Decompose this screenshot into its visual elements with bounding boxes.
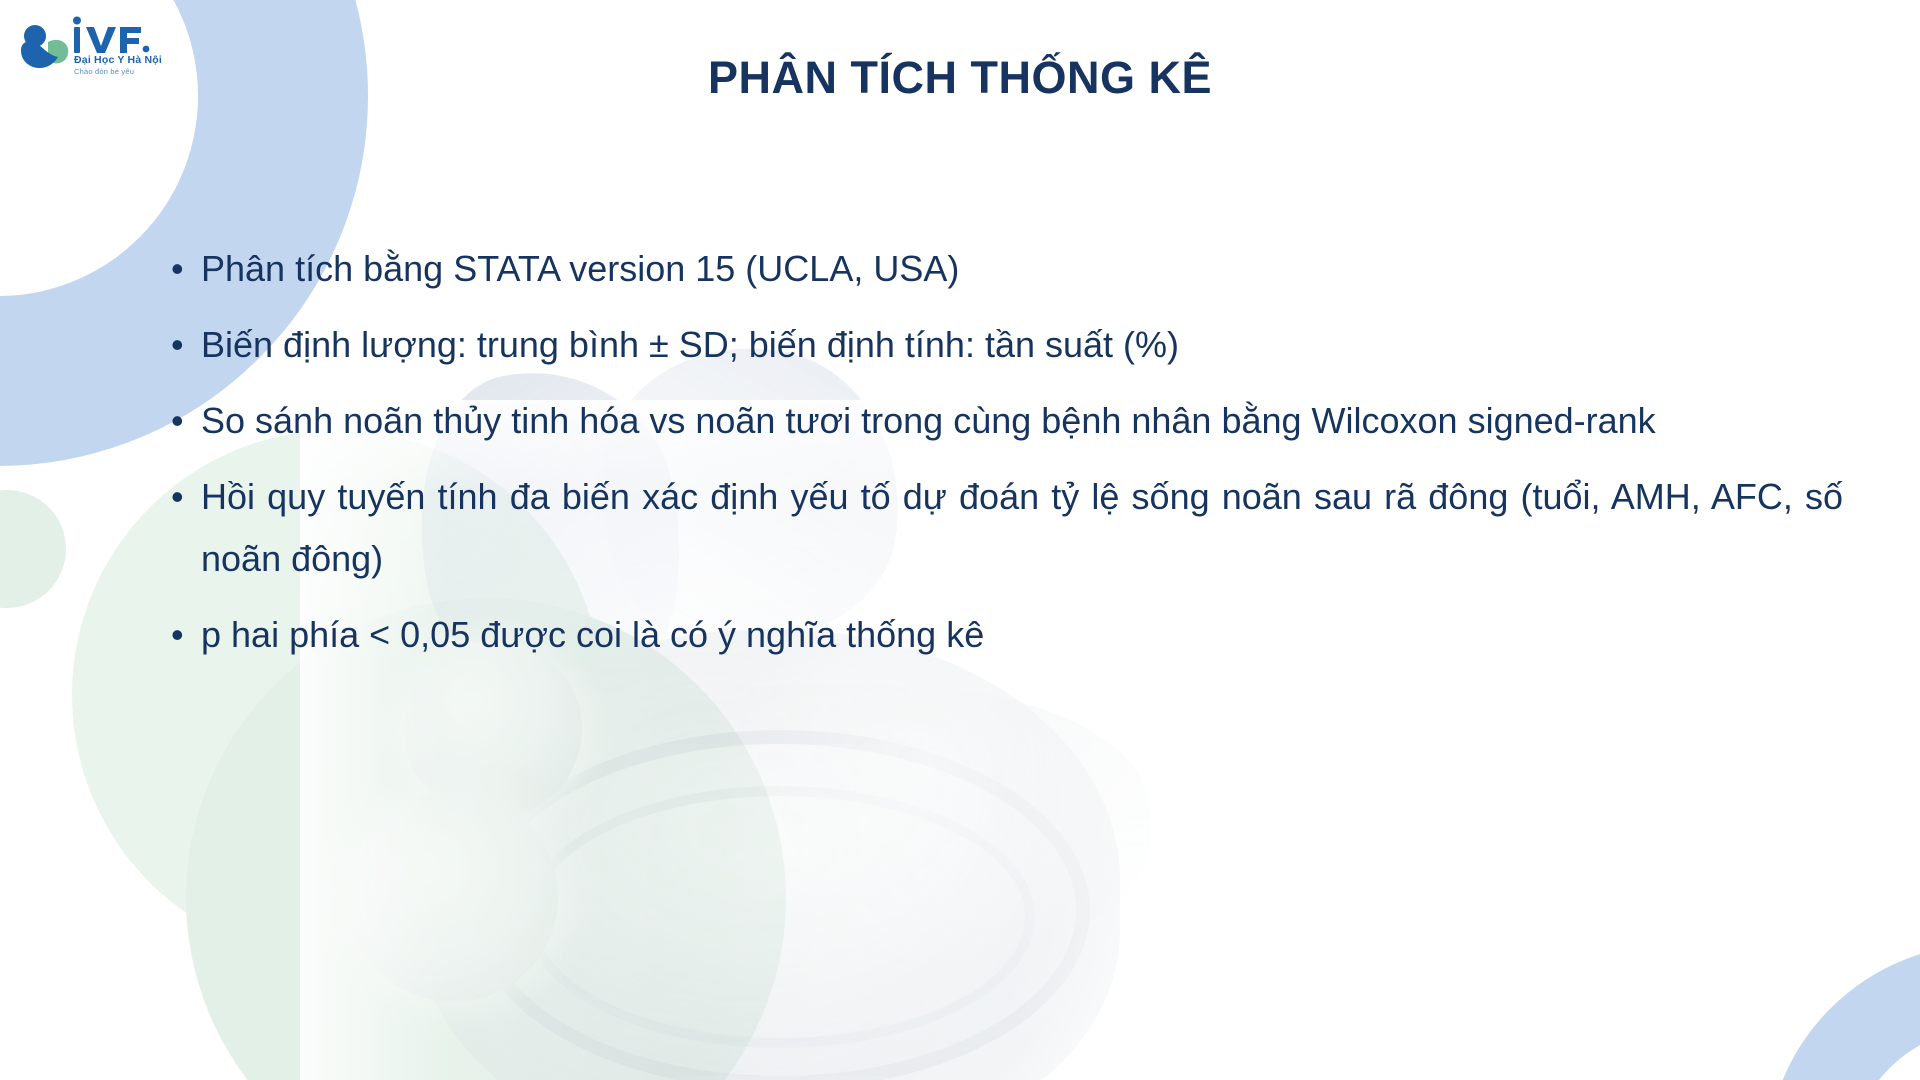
bullet-marker-icon: • [163,604,201,666]
bullet-list: • Phân tích bằng STATA version 15 (UCLA,… [163,238,1843,680]
photo-dish-outer [420,630,1120,1080]
slide-title: PHÂN TÍCH THỐNG KÊ [0,53,1920,103]
photo-dish-inner-rim [525,786,1035,1048]
bullet-item-3: • So sánh noãn thủy tinh hóa vs noãn tươ… [163,390,1843,452]
slide-canvas: Đại Học Y Hà Nội Chào đón bé yêu PHÂN TÍ… [0,0,1920,1080]
photo-dish-rim [470,730,1090,1080]
bullet-marker-icon: • [163,466,201,528]
bullet-text-2: Biến định lượng: trung bình ± SD; biến đ… [201,314,1401,376]
bullet-item-4: • Hồi quy tuyến tính đa biến xác định yế… [163,466,1843,590]
decorative-circle-green-small [0,490,66,608]
bullet-item-1: • Phân tích bằng STATA version 15 (UCLA,… [163,238,1843,300]
bullet-text-5: p hai phía < 0,05 được coi là có ý nghĩa… [201,604,1401,666]
bullet-marker-icon: • [163,390,201,452]
bullet-item-5: • p hai phía < 0,05 được coi là có ý ngh… [163,604,1843,666]
bullet-text-1: Phân tích bằng STATA version 15 (UCLA, U… [201,238,1251,300]
bullet-text-3: So sánh noãn thủy tinh hóa vs noãn tươi … [201,390,1843,452]
bullet-marker-icon: • [163,238,201,300]
photo-tray-shape [530,685,1150,985]
bullet-marker-icon: • [163,314,201,376]
bullet-text-4: Hồi quy tuyến tính đa biến xác định yếu … [201,466,1843,590]
photo-oocyte-lower [348,792,558,1002]
decorative-ring-bottom-right [1766,944,1920,1080]
logo-wordmark-ivf [73,17,149,54]
bullet-item-2: • Biến định lượng: trung bình ± SD; biến… [163,314,1843,376]
